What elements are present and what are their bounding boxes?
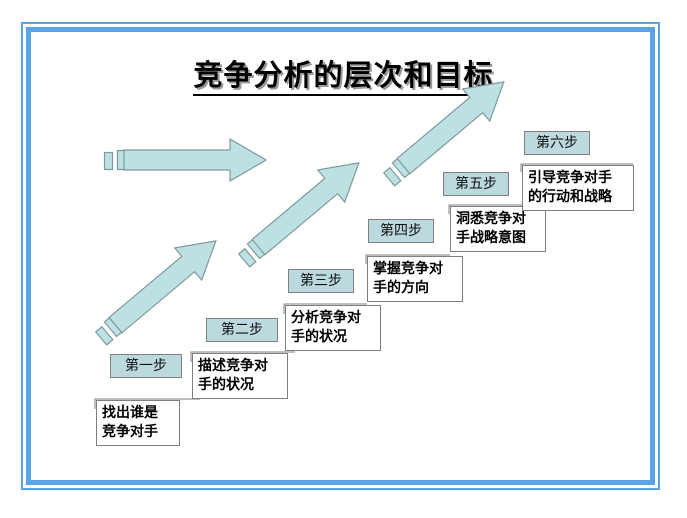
page-title: 竞争分析的层次和目标 <box>0 52 687 94</box>
step-chip-3[interactable]: 第三步 <box>288 269 354 293</box>
step-chip-1[interactable]: 第一步 <box>110 354 182 378</box>
step-description-1[interactable]: 找出谁是 竞争对手 <box>96 400 180 446</box>
step-description-5[interactable]: 洞悉竞争对 手战略意图 <box>450 206 546 252</box>
step-description-3[interactable]: 分析竞争对 手的状况 <box>285 305 381 351</box>
arrow-horizontal-top <box>105 139 267 181</box>
step-chip-2[interactable]: 第二步 <box>206 318 278 342</box>
step-description-4[interactable]: 掌握竞争对 手的方向 <box>367 256 463 302</box>
page-title-text: 竞争分析的层次和目标 <box>193 58 493 96</box>
slide-canvas: 竞争分析的层次和目标 <box>0 0 687 518</box>
arrow-diagonal-middle <box>230 147 372 276</box>
step-chip-6[interactable]: 第六步 <box>524 131 590 155</box>
step-description-6[interactable]: 引导竞争对手 的行动和战略 <box>522 165 634 211</box>
step-chip-4[interactable]: 第四步 <box>368 219 434 243</box>
step-chip-5[interactable]: 第五步 <box>443 172 509 196</box>
step-description-2[interactable]: 描述竞争对 手的状况 <box>192 353 288 399</box>
